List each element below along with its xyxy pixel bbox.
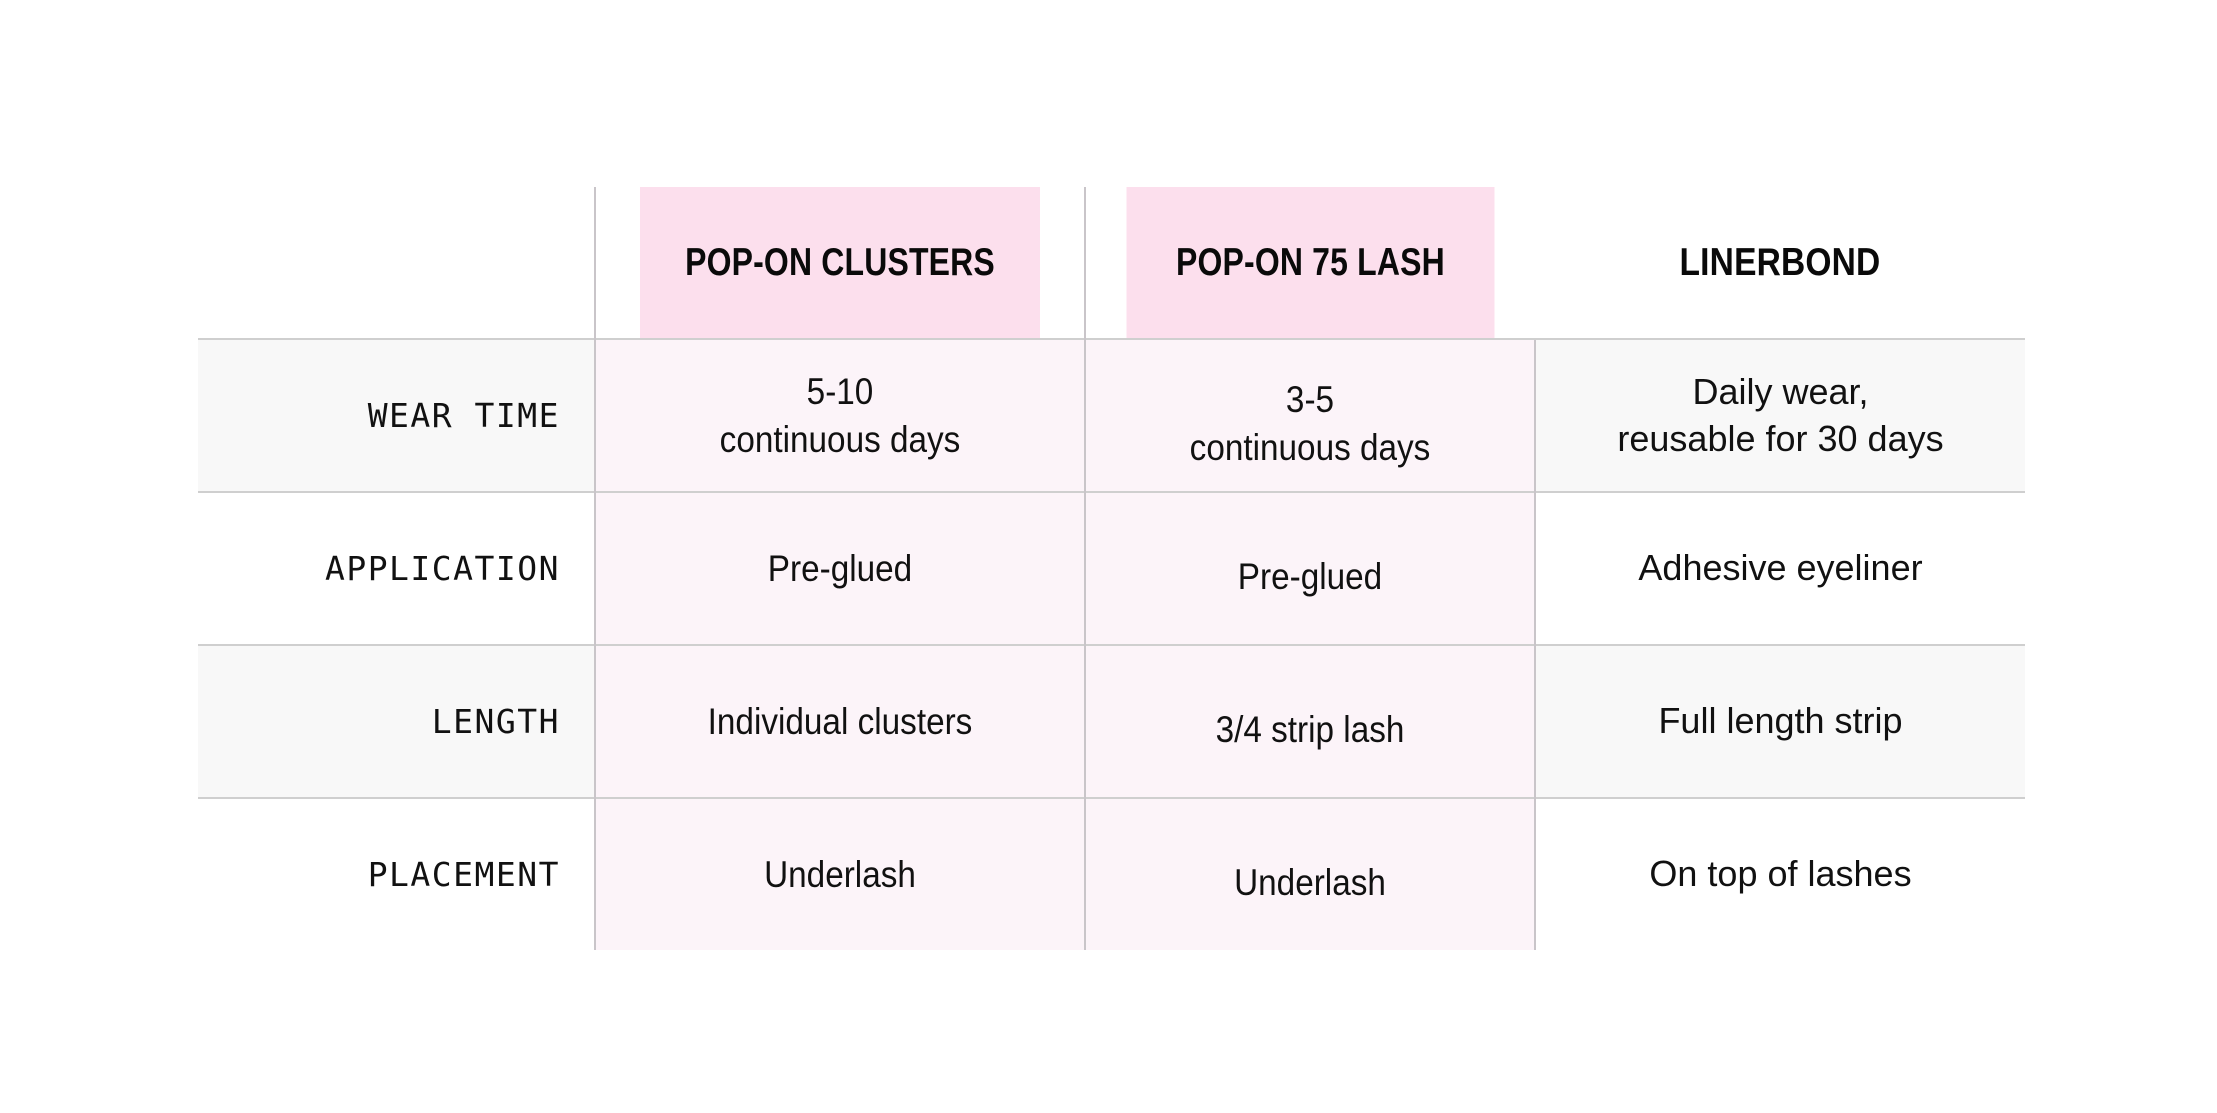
cell-length-clusters: Individual clusters bbox=[595, 645, 1085, 798]
cell-placement-linerbond: On top of lashes bbox=[1535, 798, 2025, 950]
table-row: WEAR TIME 5-10 continuous days 3-5 conti… bbox=[198, 339, 2025, 492]
row-label-wear-time: WEAR TIME bbox=[198, 339, 595, 492]
table-row: LENGTH Individual clusters 3/4 strip las… bbox=[198, 645, 2025, 798]
table-row: PLACEMENT Underlash Underlash On top of … bbox=[198, 798, 2025, 950]
cell-line-1: On top of lashes bbox=[1649, 853, 1911, 894]
table-row: APPLICATION Pre-glued Pre-glued Adhesive… bbox=[198, 492, 2025, 645]
cell-application-linerbond: Adhesive eyeliner bbox=[1535, 492, 2025, 645]
row-label-application: APPLICATION bbox=[198, 492, 595, 645]
cell-wear-time-clusters: 5-10 continuous days bbox=[595, 339, 1085, 492]
cell-line-1: Daily wear, bbox=[1692, 371, 1868, 412]
product-comparison-table: POP-ON CLUSTERS POP-ON 75 LASH LINERBOND… bbox=[198, 187, 2025, 950]
header-cell-pop-on-75-lash: POP-ON 75 LASH bbox=[1126, 187, 1495, 339]
row-label-placement: PLACEMENT bbox=[198, 798, 595, 950]
cell-wear-time-linerbond: Daily wear, reusable for 30 days bbox=[1535, 339, 2025, 492]
cell-line-2: continuous days bbox=[633, 416, 1047, 463]
header-row: POP-ON CLUSTERS POP-ON 75 LASH LINERBOND bbox=[198, 187, 2025, 339]
cell-line-1: 3/4 strip lash bbox=[1216, 709, 1405, 750]
comparison-table-page: POP-ON CLUSTERS POP-ON 75 LASH LINERBOND… bbox=[0, 0, 2217, 1113]
cell-line-1: Pre-glued bbox=[768, 548, 912, 589]
cell-length-lash75: 3/4 strip lash bbox=[1085, 645, 1535, 798]
cell-line-1: Adhesive eyeliner bbox=[1638, 547, 1922, 588]
cell-wear-time-lash75: 3-5 continuous days bbox=[1085, 339, 1535, 492]
cell-application-clusters: Pre-glued bbox=[595, 492, 1085, 645]
header-cell-pop-on-clusters: POP-ON CLUSTERS bbox=[639, 187, 1041, 339]
cell-line-1: 5-10 bbox=[807, 371, 874, 412]
table-body: WEAR TIME 5-10 continuous days 3-5 conti… bbox=[198, 339, 2025, 950]
cell-line-1: 3-5 bbox=[1286, 379, 1334, 420]
cell-line-1: Underlash bbox=[764, 854, 916, 895]
cell-application-lash75: Pre-glued bbox=[1085, 492, 1535, 645]
cell-placement-clusters: Underlash bbox=[595, 798, 1085, 950]
cell-line-1: Pre-glued bbox=[1238, 556, 1382, 597]
cell-line-1: Full length strip bbox=[1658, 700, 1902, 741]
header-cell-empty bbox=[198, 187, 595, 339]
cell-line-2: continuous days bbox=[1121, 424, 1499, 471]
row-label-length: LENGTH bbox=[198, 645, 595, 798]
cell-line-2: reusable for 30 days bbox=[1550, 416, 2011, 462]
header-cell-linerbond: LINERBOND bbox=[1569, 187, 1990, 339]
table-header: POP-ON CLUSTERS POP-ON 75 LASH LINERBOND bbox=[198, 187, 2025, 339]
cell-length-linerbond: Full length strip bbox=[1535, 645, 2025, 798]
cell-line-1: Underlash bbox=[1234, 862, 1386, 903]
cell-placement-lash75: Underlash bbox=[1085, 798, 1535, 950]
cell-line-1: Individual clusters bbox=[708, 701, 973, 742]
